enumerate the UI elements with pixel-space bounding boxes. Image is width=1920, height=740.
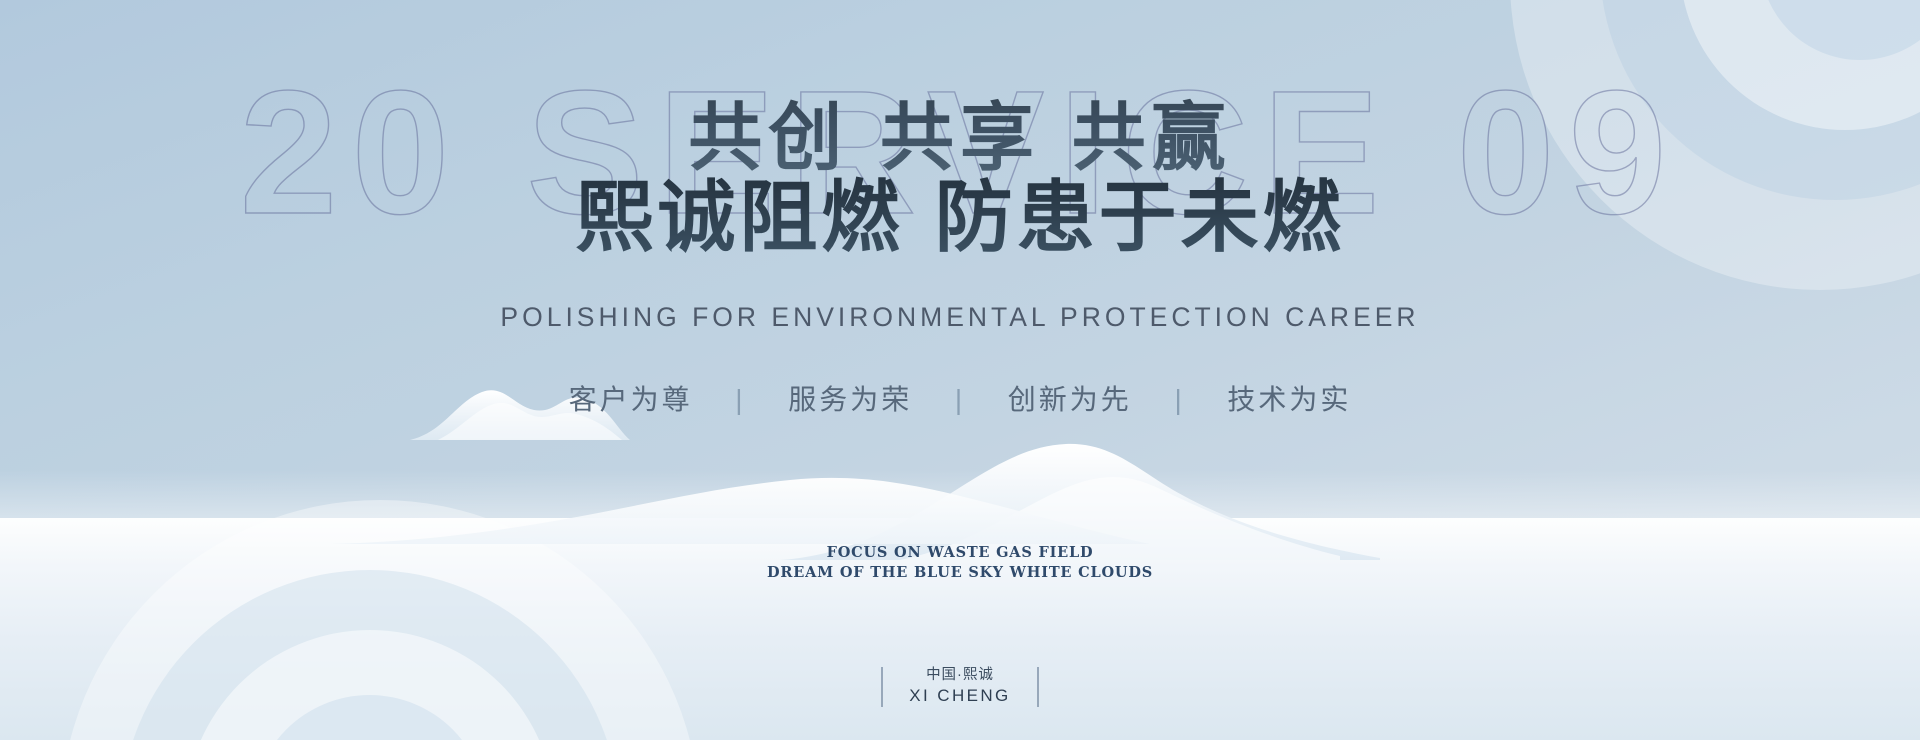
slogan-item-2: 服务为荣 [788, 378, 912, 418]
logo-text-cn: 中国·熙诚 [909, 666, 1010, 686]
serif-tagline-block: FOCUS ON WASTE GAS FIELD DREAM OF THE BL… [0, 543, 1920, 583]
slogan-item-3: 创新为先 [1008, 378, 1132, 418]
headline-line-2: 熙诚阻燃 防患于未燃 [0, 155, 1920, 267]
logo-text: 中国·熙诚 XI CHENG [909, 666, 1010, 709]
promo-banner: 20 SERVICE 09 共创 共享 共赢 熙诚阻燃 防患于未燃 POLISH… [0, 0, 1920, 740]
slogan-item-4: 技术为实 [1227, 378, 1351, 418]
slogan-row: 客户为尊 | 服务为荣 | 创新为先 | 技术为实 [0, 378, 1920, 418]
logo-text-en: XI CHENG [909, 685, 1010, 708]
slogan-separator-2: | [923, 384, 997, 416]
subtitle-english: POLISHING FOR ENVIRONMENTAL PROTECTION C… [0, 302, 1920, 333]
logo-rule-left [881, 667, 883, 707]
slogan-separator-1: | [703, 384, 777, 416]
decorative-ring-top-right-inner [1760, 0, 1920, 60]
logo-rule-right [1037, 667, 1039, 707]
serif-tagline-line-1: FOCUS ON WASTE GAS FIELD [0, 543, 1920, 563]
serif-tagline-line-2: DREAM OF THE BLUE SKY WHITE CLOUDS [0, 563, 1920, 583]
brand-logo: 中国·熙诚 XI CHENG [0, 666, 1920, 709]
slogan-separator-3: | [1143, 384, 1217, 416]
slogan-item-1: 客户为尊 [569, 378, 693, 418]
